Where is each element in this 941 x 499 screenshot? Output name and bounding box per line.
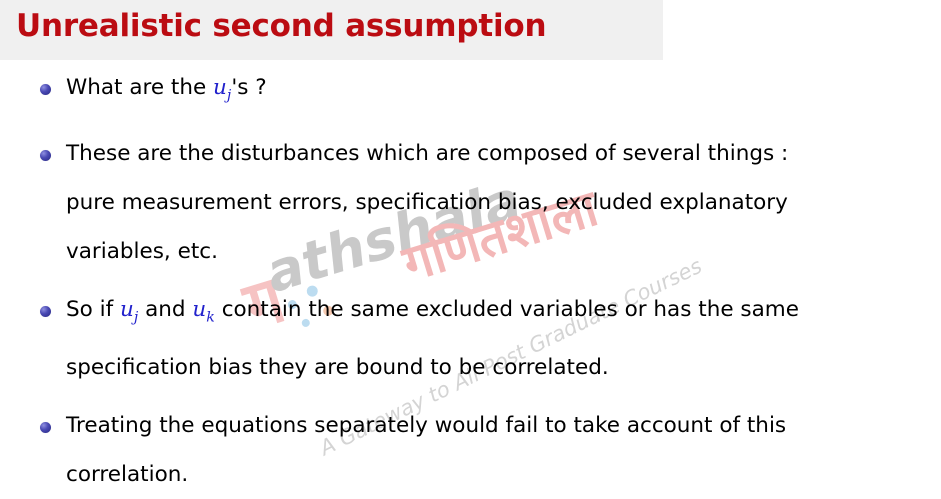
bullet-point-icon bbox=[40, 422, 51, 433]
title-band: Unrealistic second assumption bbox=[0, 0, 663, 60]
bullet-point-icon bbox=[40, 150, 51, 161]
bullet-item: What are the uj's ? bbox=[0, 63, 941, 120]
bullet-text: correlation. bbox=[66, 462, 188, 487]
bullet-item: Treating the equations separately would … bbox=[0, 401, 941, 499]
bullet-item: So if uj and uk contain the same exclude… bbox=[0, 285, 941, 391]
math-variable: uk bbox=[192, 297, 214, 322]
page-title: Unrealistic second assumption bbox=[16, 8, 546, 44]
math-variable: uj bbox=[120, 297, 138, 322]
math-variable: uj bbox=[213, 75, 231, 100]
bullet-item: These are the disturbances which are com… bbox=[0, 129, 941, 276]
bullet-line: specification bias they are bound to be … bbox=[66, 343, 941, 392]
bullet-text: pure measurement errors, specification b… bbox=[66, 190, 788, 215]
bullet-text: and bbox=[138, 297, 192, 322]
bullet-line: These are the disturbances which are com… bbox=[66, 129, 941, 178]
bullet-point-icon bbox=[40, 84, 51, 95]
bullet-point-icon bbox=[40, 306, 51, 317]
bullet-text: Treating the equations separately would … bbox=[66, 413, 786, 438]
bullet-text: So if bbox=[66, 297, 120, 322]
bullet-text: specification bias they are bound to be … bbox=[66, 355, 609, 380]
bullet-line: correlation. bbox=[66, 450, 941, 499]
bullet-text: What are the bbox=[66, 75, 213, 100]
bullet-line: What are the uj's ? bbox=[66, 63, 941, 120]
bullet-text: variables, etc. bbox=[66, 239, 218, 264]
bullet-line: So if uj and uk contain the same exclude… bbox=[66, 285, 941, 342]
bullet-text: These are the disturbances which are com… bbox=[66, 141, 788, 166]
bullet-line: variables, etc. bbox=[66, 227, 941, 276]
bullet-list: What are the uj's ?These are the disturb… bbox=[0, 63, 941, 499]
bullet-line: Treating the equations separately would … bbox=[66, 401, 941, 450]
bullet-text: contain the same excluded variables or h… bbox=[215, 297, 799, 322]
slide-body: What are the uj's ?These are the disturb… bbox=[0, 63, 941, 499]
bullet-text: 's ? bbox=[231, 75, 266, 100]
bullet-line: pure measurement errors, specification b… bbox=[66, 178, 941, 227]
